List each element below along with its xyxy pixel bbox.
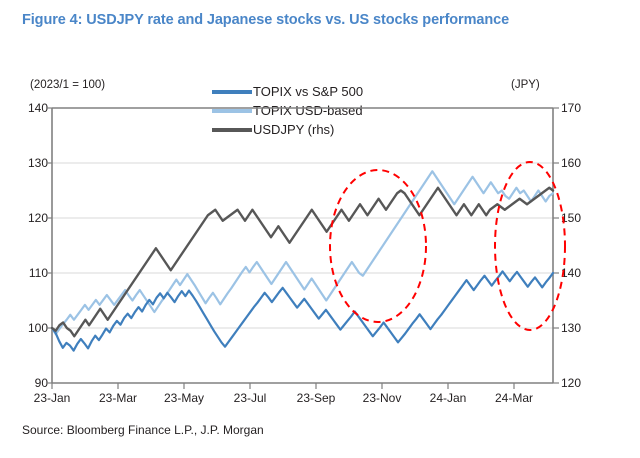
chart-plot (0, 0, 640, 458)
series-lines (52, 171, 553, 350)
plot-frame (52, 108, 553, 383)
ellipse-apr-2024 (495, 162, 565, 330)
series-line-topix-usd-based (52, 171, 553, 334)
source-note: Source: Bloomberg Finance L.P., J.P. Mor… (22, 423, 264, 437)
series-line-topix-vs-sp500 (52, 271, 553, 350)
ellipse-oct-nov-2023 (330, 170, 426, 322)
gridlines (52, 163, 553, 328)
axis-ticks (46, 108, 559, 389)
